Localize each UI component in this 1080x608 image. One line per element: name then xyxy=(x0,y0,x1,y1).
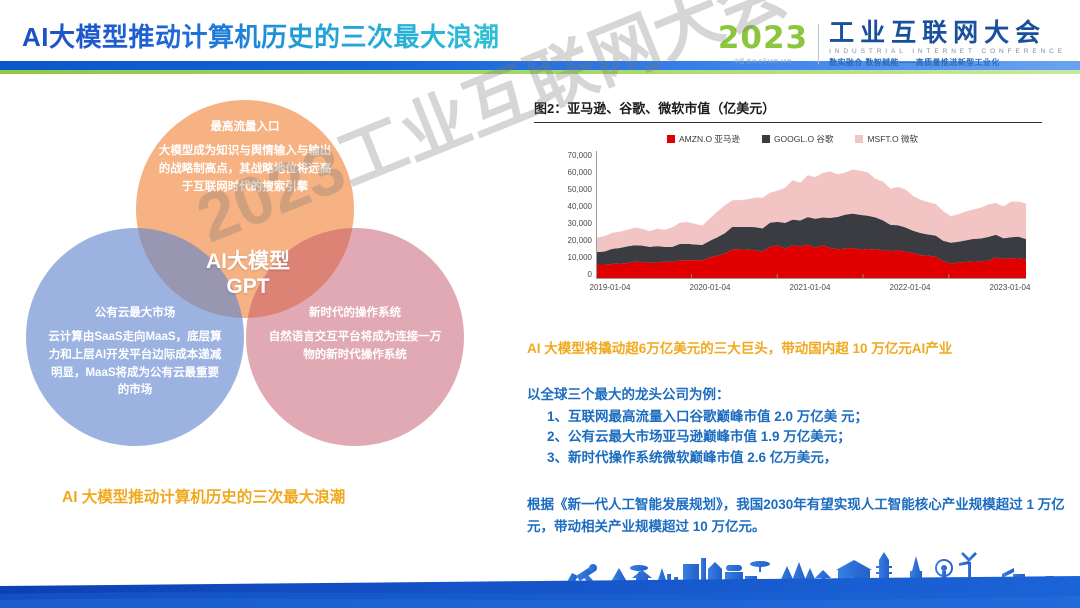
venn-circle-head: 最高流量入口 xyxy=(211,118,280,134)
legend-label: AMZN.O 亚马逊 xyxy=(679,133,740,145)
legend-label: GOOGL.O 谷歌 xyxy=(774,133,834,145)
footer-skyline-icon xyxy=(0,538,1080,608)
venn-center-line2: GPT xyxy=(168,275,328,300)
chart-plot-wrap: 70,00060,00050,00040,00030,00020,00010,0… xyxy=(520,151,1065,311)
slide-header: AI大模型推动计算机历史的三次最大浪潮 2023 中国·苏州 8月18日-19日… xyxy=(0,0,1080,78)
venn-circle-body: 云计算由SaaS走向MaaS，底层算力和上层AI开发平台边际成本递减明显，Maa… xyxy=(46,329,224,400)
chart-x-tick: 2020-01-04 xyxy=(660,283,760,292)
venn-circle-head: 公有云最大市场 xyxy=(95,304,176,320)
chart-y-tick: 20,000 xyxy=(568,236,592,245)
venn-center-line1: AI大模型 xyxy=(168,250,328,275)
conference-logo: 2023 中国·苏州 8月18日-19日 工业互联网大会 INDUSTRIAL … xyxy=(718,16,1066,72)
logo-tagline: 数实融合 数智赋能——高质量推进新型工业化 xyxy=(829,57,1066,68)
example-list-item: 1、互联网最高流量入口谷歌巅峰市值 2.0 万亿美 元； xyxy=(527,407,1067,428)
chart-y-tick: 60,000 xyxy=(568,168,592,177)
legend-item-amzn: AMZN.O 亚马逊 xyxy=(667,133,740,145)
legend-item-googl: GOOGL.O 谷歌 xyxy=(762,133,834,145)
venn-circle-body: 大模型成为知识与舆情输入与输出的战略制高点，其战略地位将远高于互联网时代的搜索引… xyxy=(156,143,334,196)
chart-y-tick: 50,000 xyxy=(568,185,592,194)
slide-footer xyxy=(0,538,1080,608)
legend-swatch-icon xyxy=(855,135,863,143)
logo-year-subtitle: 中国·苏州 8月18日-19日 xyxy=(734,58,792,65)
logo-year-block: 2023 中国·苏州 8月18日-19日 xyxy=(718,23,818,65)
closing-text: 根据《新一代人工智能发展规划》，我国2030年有望实现人工智能核心产业规模超过 … xyxy=(527,494,1067,538)
chart-y-tick: 40,000 xyxy=(568,202,592,211)
chart-x-tick: 2019-01-04 xyxy=(560,283,660,292)
example-list-item: 3、新时代操作系统微软巅峰市值 2.6 亿万美元， xyxy=(527,448,1067,469)
chart-x-tick: 2023-01-04 xyxy=(960,283,1060,292)
chart-panel: 图2：亚马逊、谷歌、微软市值（亿美元） AMZN.O 亚马逊 GOOGL.O 谷… xyxy=(520,98,1065,320)
legend-swatch-icon xyxy=(762,135,770,143)
legend-item-msft: MSFT.O 微软 xyxy=(855,133,918,145)
right-text-block: AI 大模型将撬动超6万亿美元的三大巨头，带动国内超 10 万亿元AI产业 以全… xyxy=(527,338,1067,538)
chart-x-axis: 2019-01-042020-01-042021-01-042022-01-04… xyxy=(560,283,1060,292)
legend-label: MSFT.O 微软 xyxy=(867,133,918,145)
venn-circle-head: 新时代的操作系统 xyxy=(309,304,401,320)
chart-y-tick: 30,000 xyxy=(568,219,592,228)
chart-title: 图2：亚马逊、谷歌、微软市值（亿美元） xyxy=(534,98,1042,123)
chart-y-axis: 70,00060,00050,00040,00030,00020,00010,0… xyxy=(542,151,592,279)
chart-y-tick: 70,000 xyxy=(568,151,592,160)
venn-center-label: AI大模型 GPT xyxy=(168,250,328,300)
legend-swatch-icon xyxy=(667,135,675,143)
chart-legend: AMZN.O 亚马逊 GOOGL.O 谷歌 MSFT.O 微软 xyxy=(520,133,1065,145)
example-list: 1、互联网最高流量入口谷歌巅峰市值 2.0 万亿美 元；2、公有云最大市场亚马逊… xyxy=(527,407,1067,469)
chart-plot-area xyxy=(596,151,1026,279)
logo-text-block: 工业互联网大会 INDUSTRIAL INTERNET CONFERENCE 数… xyxy=(819,20,1066,68)
logo-name-en: INDUSTRIAL INTERNET CONFERENCE xyxy=(829,48,1066,55)
venn-circle-body: 自然语言交互平台将成为连接一万物的新时代操作系统 xyxy=(266,329,444,365)
logo-year: 2023 xyxy=(718,23,808,54)
chart-x-tick: 2022-01-04 xyxy=(860,283,960,292)
page-title: AI大模型推动计算机历史的三次最大浪潮 xyxy=(22,17,500,54)
chart-x-tick: 2021-01-04 xyxy=(760,283,860,292)
logo-name-cn: 工业互联网大会 xyxy=(829,20,1066,46)
venn-diagram: 最高流量入口 大模型成为知识与舆情输入与输出的战略制高点，其战略地位将远高于互联… xyxy=(8,100,508,520)
example-intro-text: 以全球三个最大的龙头公司为例： xyxy=(527,383,1067,403)
chart-y-tick: 0 xyxy=(588,270,592,279)
chart-y-tick: 10,000 xyxy=(568,253,592,262)
venn-caption: AI 大模型推动计算机历史的三次最大浪潮 xyxy=(62,485,502,507)
chart-svg xyxy=(597,151,1026,278)
headline-text: AI 大模型将撬动超6万亿美元的三大巨头，带动国内超 10 万亿元AI产业 xyxy=(527,338,1067,360)
example-list-item: 2、公有云最大市场亚马逊巅峰市值 1.9 万亿美元； xyxy=(527,427,1067,448)
